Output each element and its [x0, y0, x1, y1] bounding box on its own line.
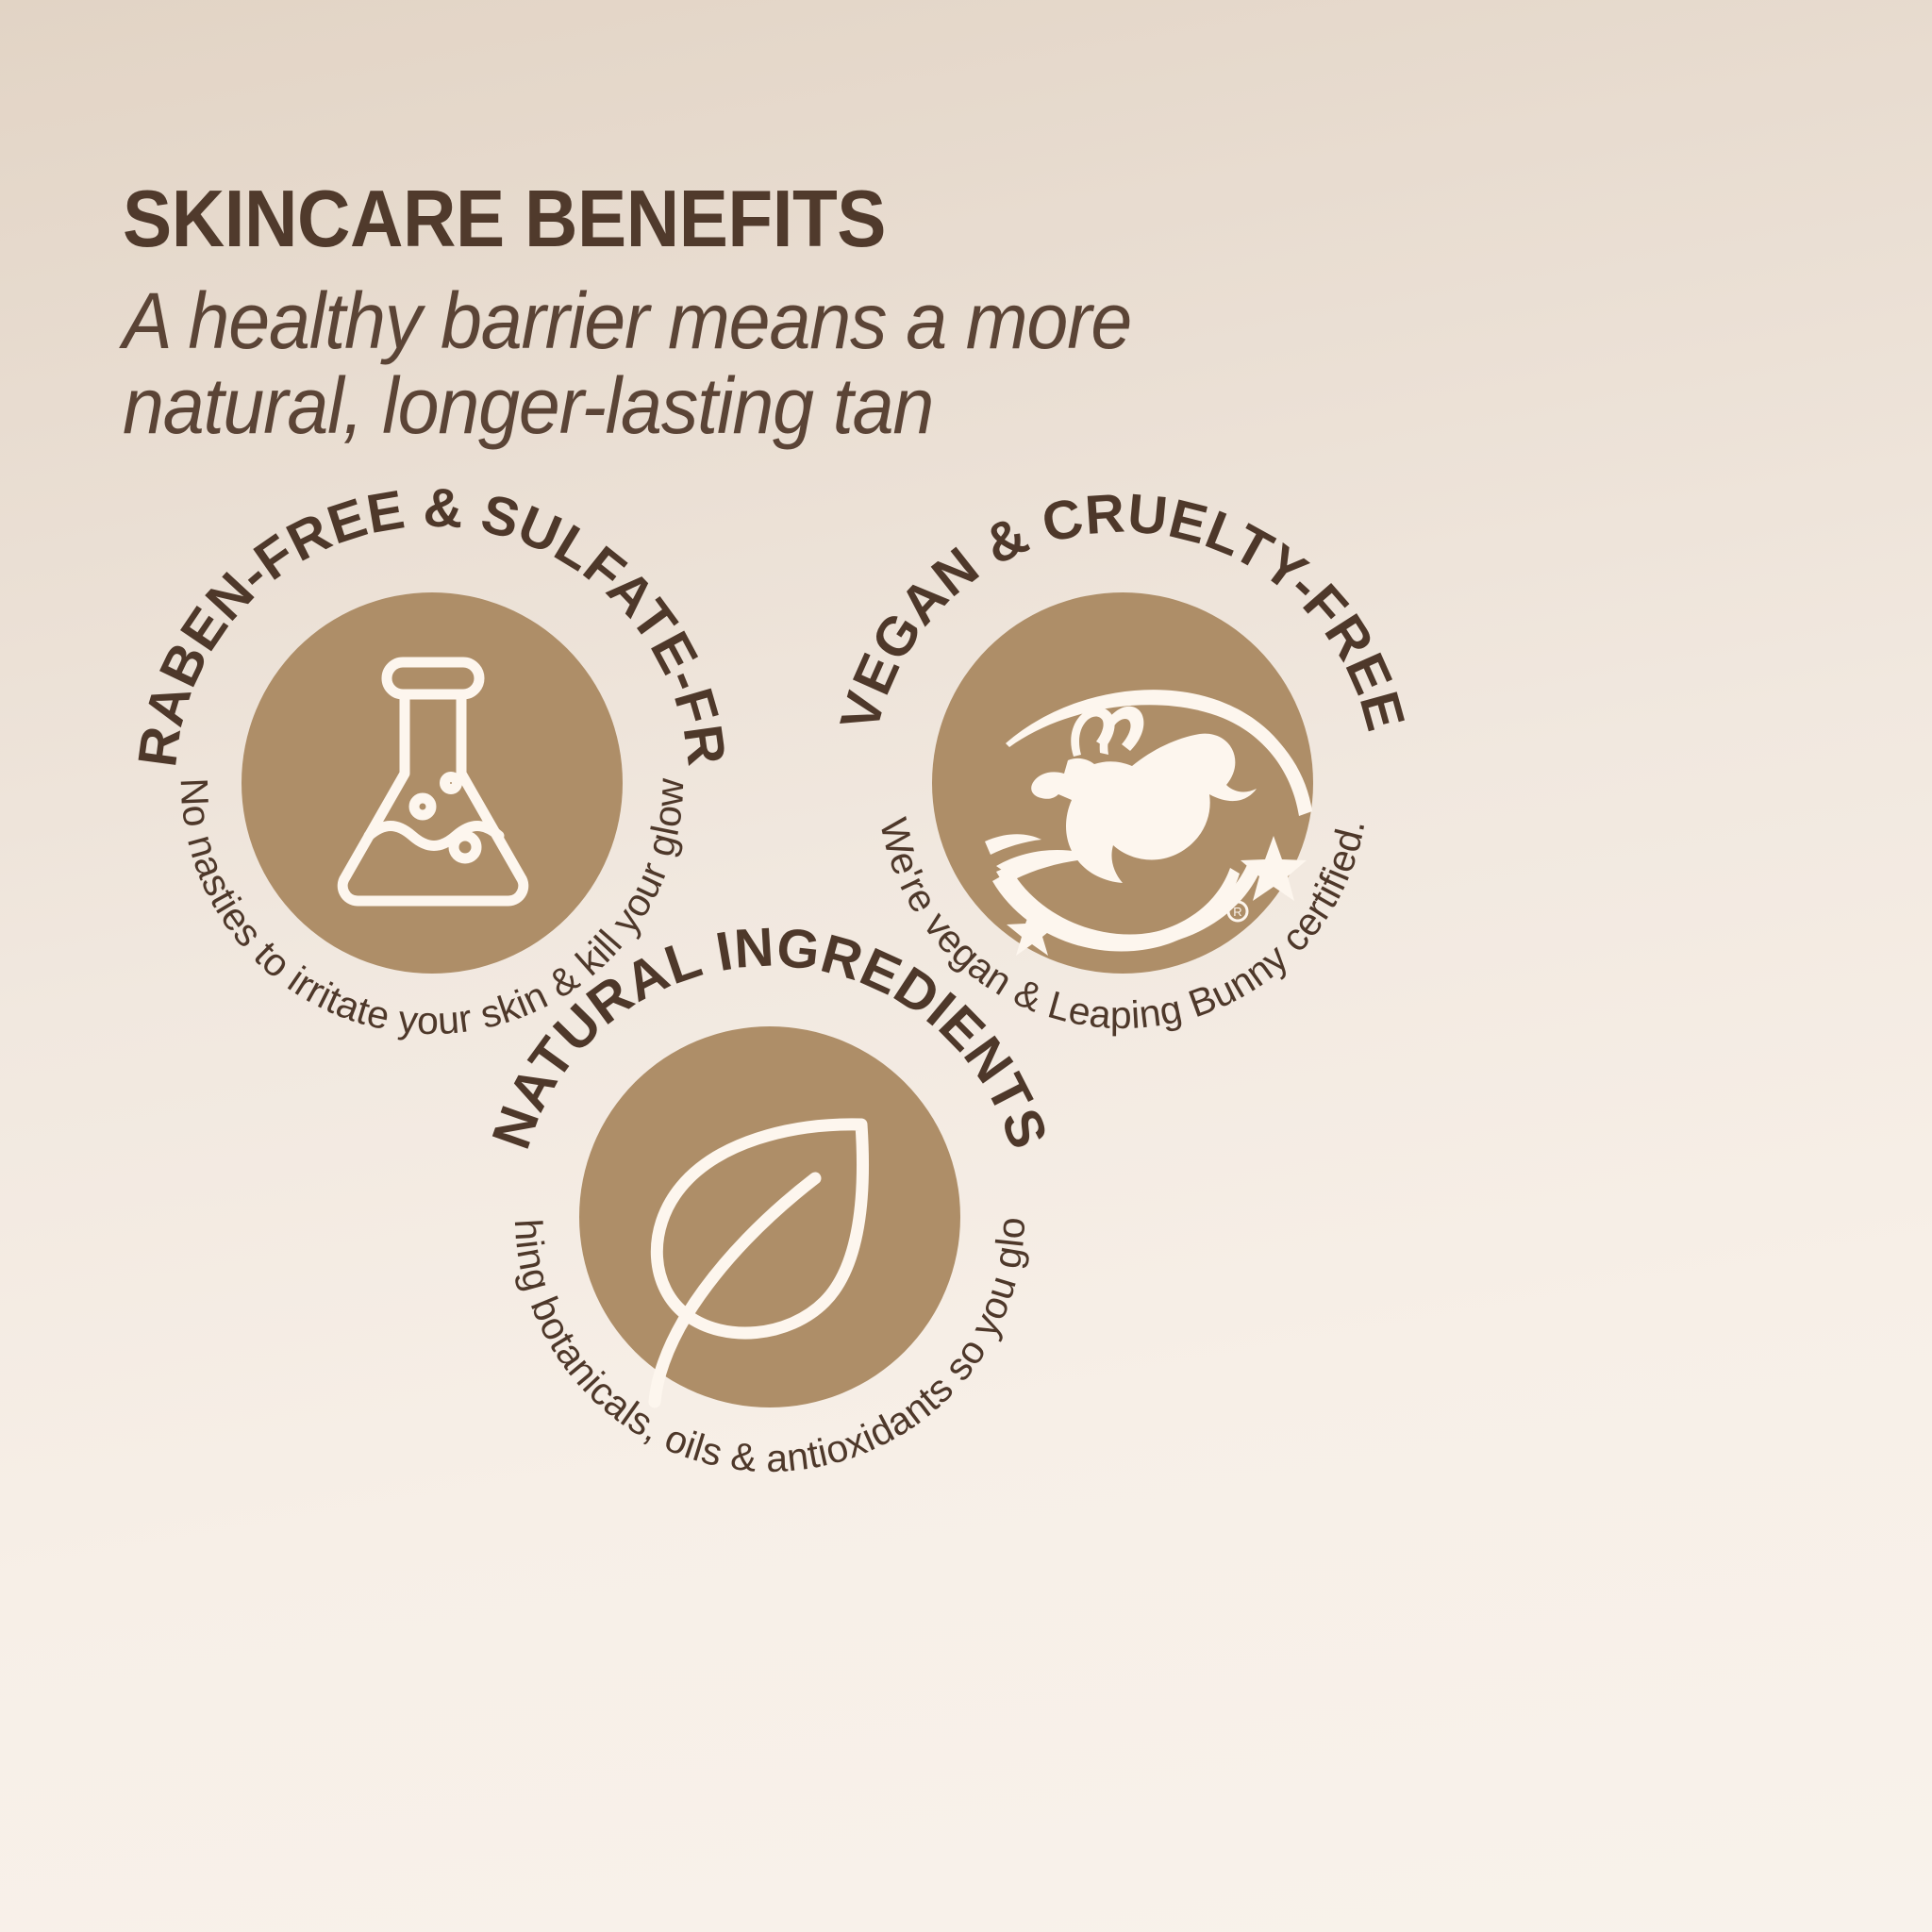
- page-subtitle: A healthy barrier means a more natural, …: [123, 278, 1364, 449]
- header-block: SKINCARE BENEFITS A healthy barrier mean…: [123, 179, 1443, 449]
- subtitle-line-1: A healthy barrier means a more: [123, 278, 1364, 364]
- svg-text:R: R: [1233, 905, 1241, 919]
- benefits-graphic: SKINCARE BENEFITS A healthy barrier mean…: [0, 0, 1932, 1932]
- page-title: SKINCARE BENEFITS: [123, 179, 1338, 261]
- subtitle-line-2: natural, longer-lasting tan: [123, 363, 1364, 449]
- badge-disc: [241, 592, 623, 974]
- badge-natural-ingredients: NATURAL INGREDIENTS Nourishing botanical…: [477, 924, 1062, 1509]
